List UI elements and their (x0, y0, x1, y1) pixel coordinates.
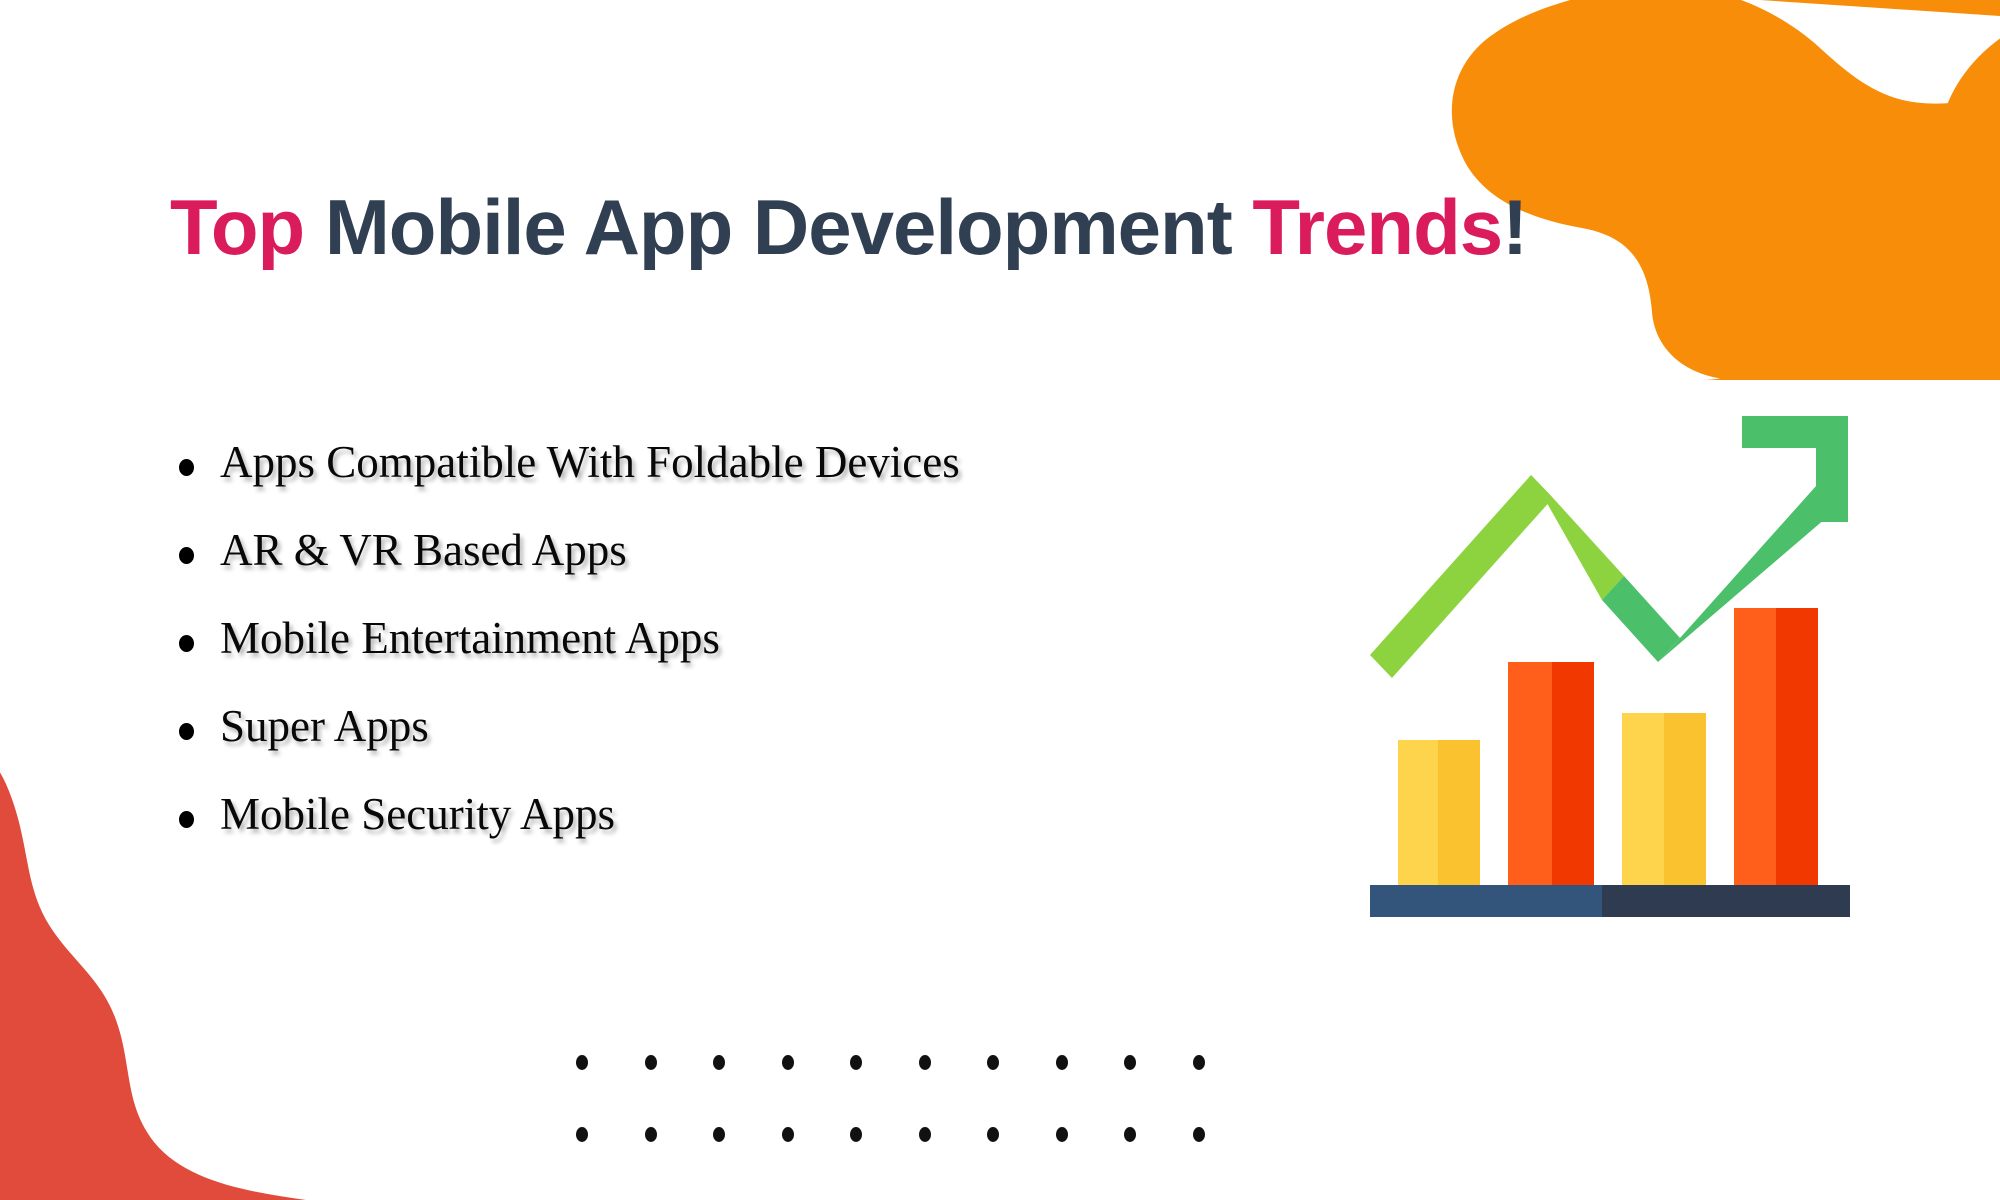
list-item-label: Apps Compatible With Foldable Devices (220, 437, 960, 487)
bar-2 (1508, 662, 1594, 885)
title-part-dark: Mobile App Development (325, 183, 1253, 271)
grid-dot (576, 1055, 588, 1070)
dot-grid-row (576, 1127, 1205, 1142)
list-item: Apps Compatible With Foldable Devices (220, 440, 960, 485)
list-item-label: Mobile Entertainment Apps (220, 613, 720, 663)
growth-bar-chart-illustration (1370, 410, 1870, 920)
grid-dot (1193, 1127, 1205, 1142)
grid-dot (1056, 1127, 1068, 1142)
grid-dot (850, 1055, 862, 1070)
grid-dot (987, 1055, 999, 1070)
grid-dot (987, 1127, 999, 1142)
list-item: AR & VR Based Apps (220, 528, 960, 573)
grid-dot (576, 1127, 588, 1142)
bar-4 (1734, 608, 1818, 885)
grid-dot (645, 1055, 657, 1070)
title-exclamation: ! (1502, 183, 1527, 271)
grid-dot (850, 1127, 862, 1142)
bar-3 (1622, 713, 1706, 885)
title-part-accent-top: Top (170, 183, 325, 271)
list-item: Mobile Entertainment Apps (220, 616, 960, 661)
slide-canvas: Top Mobile App Development Trends! Apps … (0, 0, 2000, 1200)
list-item-label: Mobile Security Apps (220, 789, 615, 839)
chart-baseline (1370, 885, 1850, 917)
grid-dot (782, 1127, 794, 1142)
list-item: Super Apps (220, 704, 960, 749)
grid-dot (713, 1055, 725, 1070)
grid-dot (1056, 1055, 1068, 1070)
trends-bullet-list: Apps Compatible With Foldable Devices AR… (168, 440, 960, 880)
list-item-label: AR & VR Based Apps (220, 525, 627, 575)
page-title: Top Mobile App Development Trends! (170, 182, 1527, 273)
grid-dot (782, 1055, 794, 1070)
title-part-accent-trends: Trends (1252, 183, 1502, 271)
grid-dot (919, 1127, 931, 1142)
grid-dot (713, 1127, 725, 1142)
bar-1 (1398, 740, 1480, 885)
grid-dot (1124, 1127, 1136, 1142)
list-item-label: Super Apps (220, 701, 429, 751)
grid-dot (1193, 1055, 1205, 1070)
grid-dot (645, 1127, 657, 1142)
list-item: Mobile Security Apps (220, 792, 960, 837)
grid-dot (1124, 1055, 1136, 1070)
dot-grid-decoration (576, 1055, 1205, 1199)
grid-dot (919, 1055, 931, 1070)
dot-grid-row (576, 1055, 1205, 1070)
